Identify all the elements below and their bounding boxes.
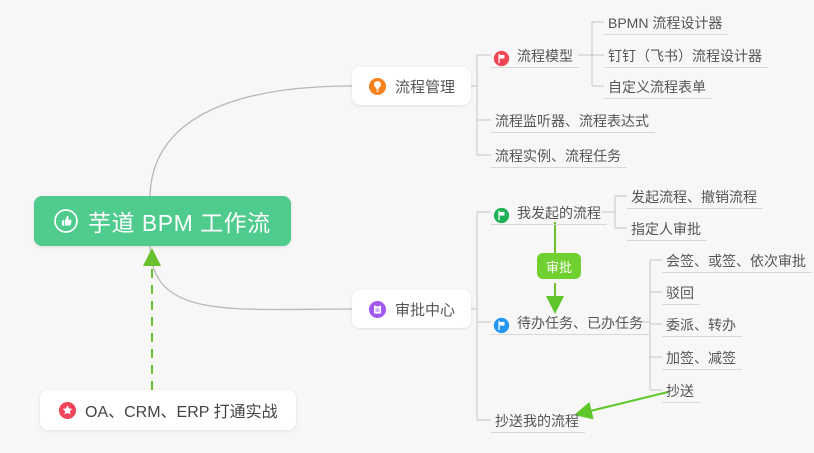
leaf-label-cc-to-me-process: 抄送我的流程 bbox=[495, 410, 579, 432]
leaf-label-process-listener: 流程监听器、流程表达式 bbox=[495, 110, 649, 132]
leaf-label-custom-process-form: 自定义流程表单 bbox=[608, 76, 706, 98]
leaf-label-countersign: 会签、或签、依次审批 bbox=[666, 250, 806, 272]
wire-root-to-approval-center bbox=[150, 244, 352, 310]
clipboard-icon bbox=[368, 300, 387, 319]
leaf-countersign[interactable]: 会签、或签、依次审批 bbox=[662, 246, 812, 273]
branch-node-approval-center[interactable]: 审批中心 bbox=[352, 290, 471, 328]
branch-node-process-management[interactable]: 流程管理 bbox=[352, 67, 471, 105]
leaf-label-delegate-transfer: 委派、转办 bbox=[666, 314, 736, 336]
callout-label: OA、CRM、ERP 打通实战 bbox=[85, 398, 278, 422]
callout-node[interactable]: OA、CRM、ERP 打通实战 bbox=[40, 390, 296, 430]
leaf-process-instance-task[interactable]: 流程实例、流程任务 bbox=[491, 141, 627, 168]
root-label: 芋道 BPM 工作流 bbox=[88, 204, 271, 238]
approval-tag-label: 审批 bbox=[546, 257, 572, 276]
leaf-label-dingtalk-feishu-designer: 钉钉（飞书）流程设计器 bbox=[608, 45, 762, 67]
leaf-label-start-cancel-process: 发起流程、撤销流程 bbox=[631, 186, 757, 208]
leaf-start-cancel-process[interactable]: 发起流程、撤销流程 bbox=[627, 182, 763, 209]
branch-label-process-management: 流程管理 bbox=[395, 76, 455, 97]
leaf-label-add-remove-sign: 加签、减签 bbox=[666, 347, 736, 369]
leaf-cc[interactable]: 抄送 bbox=[662, 376, 700, 403]
leaf-bpmn-designer[interactable]: BPMN 流程设计器 bbox=[604, 8, 728, 35]
flag-red-icon bbox=[493, 50, 510, 67]
star-icon bbox=[58, 401, 77, 420]
root-node[interactable]: 芋道 BPM 工作流 bbox=[34, 196, 291, 246]
leaf-cc-to-me-process[interactable]: 抄送我的流程 bbox=[491, 406, 585, 433]
lightbulb-icon bbox=[368, 77, 387, 96]
node-process-model[interactable]: 流程模型 bbox=[491, 41, 579, 68]
leaf-label-process-instance-task: 流程实例、流程任务 bbox=[495, 145, 621, 167]
mindmap-canvas: 芋道 BPM 工作流 OA、CRM、ERP 打通实战 流程管理 bbox=[0, 0, 814, 453]
arrow-cc-to-cc-mine bbox=[578, 392, 668, 414]
node-todo-done-task[interactable]: 待办任务、已办任务 bbox=[491, 308, 649, 335]
leaf-label-cc: 抄送 bbox=[666, 380, 694, 402]
node-label-todo-done-task: 待办任务、已办任务 bbox=[517, 312, 643, 334]
leaf-add-remove-sign[interactable]: 加签、减签 bbox=[662, 343, 742, 370]
leaf-label-assignee-approval: 指定人审批 bbox=[631, 218, 701, 240]
branch-label-approval-center: 审批中心 bbox=[395, 299, 455, 320]
leaf-label-reject: 驳回 bbox=[666, 282, 694, 304]
leaf-label-bpmn-designer: BPMN 流程设计器 bbox=[608, 12, 722, 34]
node-my-started-process[interactable]: 我发起的流程 bbox=[491, 198, 607, 225]
node-label-process-model: 流程模型 bbox=[517, 45, 573, 67]
leaf-delegate-transfer[interactable]: 委派、转办 bbox=[662, 310, 742, 337]
node-label-my-started-process: 我发起的流程 bbox=[517, 202, 601, 224]
flag-green-icon bbox=[493, 207, 510, 224]
leaf-dingtalk-feishu-designer[interactable]: 钉钉（飞书）流程设计器 bbox=[604, 41, 768, 68]
approval-tag[interactable]: 审批 bbox=[537, 253, 581, 279]
wire-root-to-process-management bbox=[150, 86, 352, 199]
leaf-custom-process-form[interactable]: 自定义流程表单 bbox=[604, 72, 712, 99]
flag-blue-icon bbox=[493, 317, 510, 334]
leaf-process-listener[interactable]: 流程监听器、流程表达式 bbox=[491, 106, 655, 133]
leaf-assignee-approval[interactable]: 指定人审批 bbox=[627, 214, 707, 241]
thumbs-up-icon bbox=[54, 209, 78, 233]
leaf-reject[interactable]: 驳回 bbox=[662, 278, 700, 305]
